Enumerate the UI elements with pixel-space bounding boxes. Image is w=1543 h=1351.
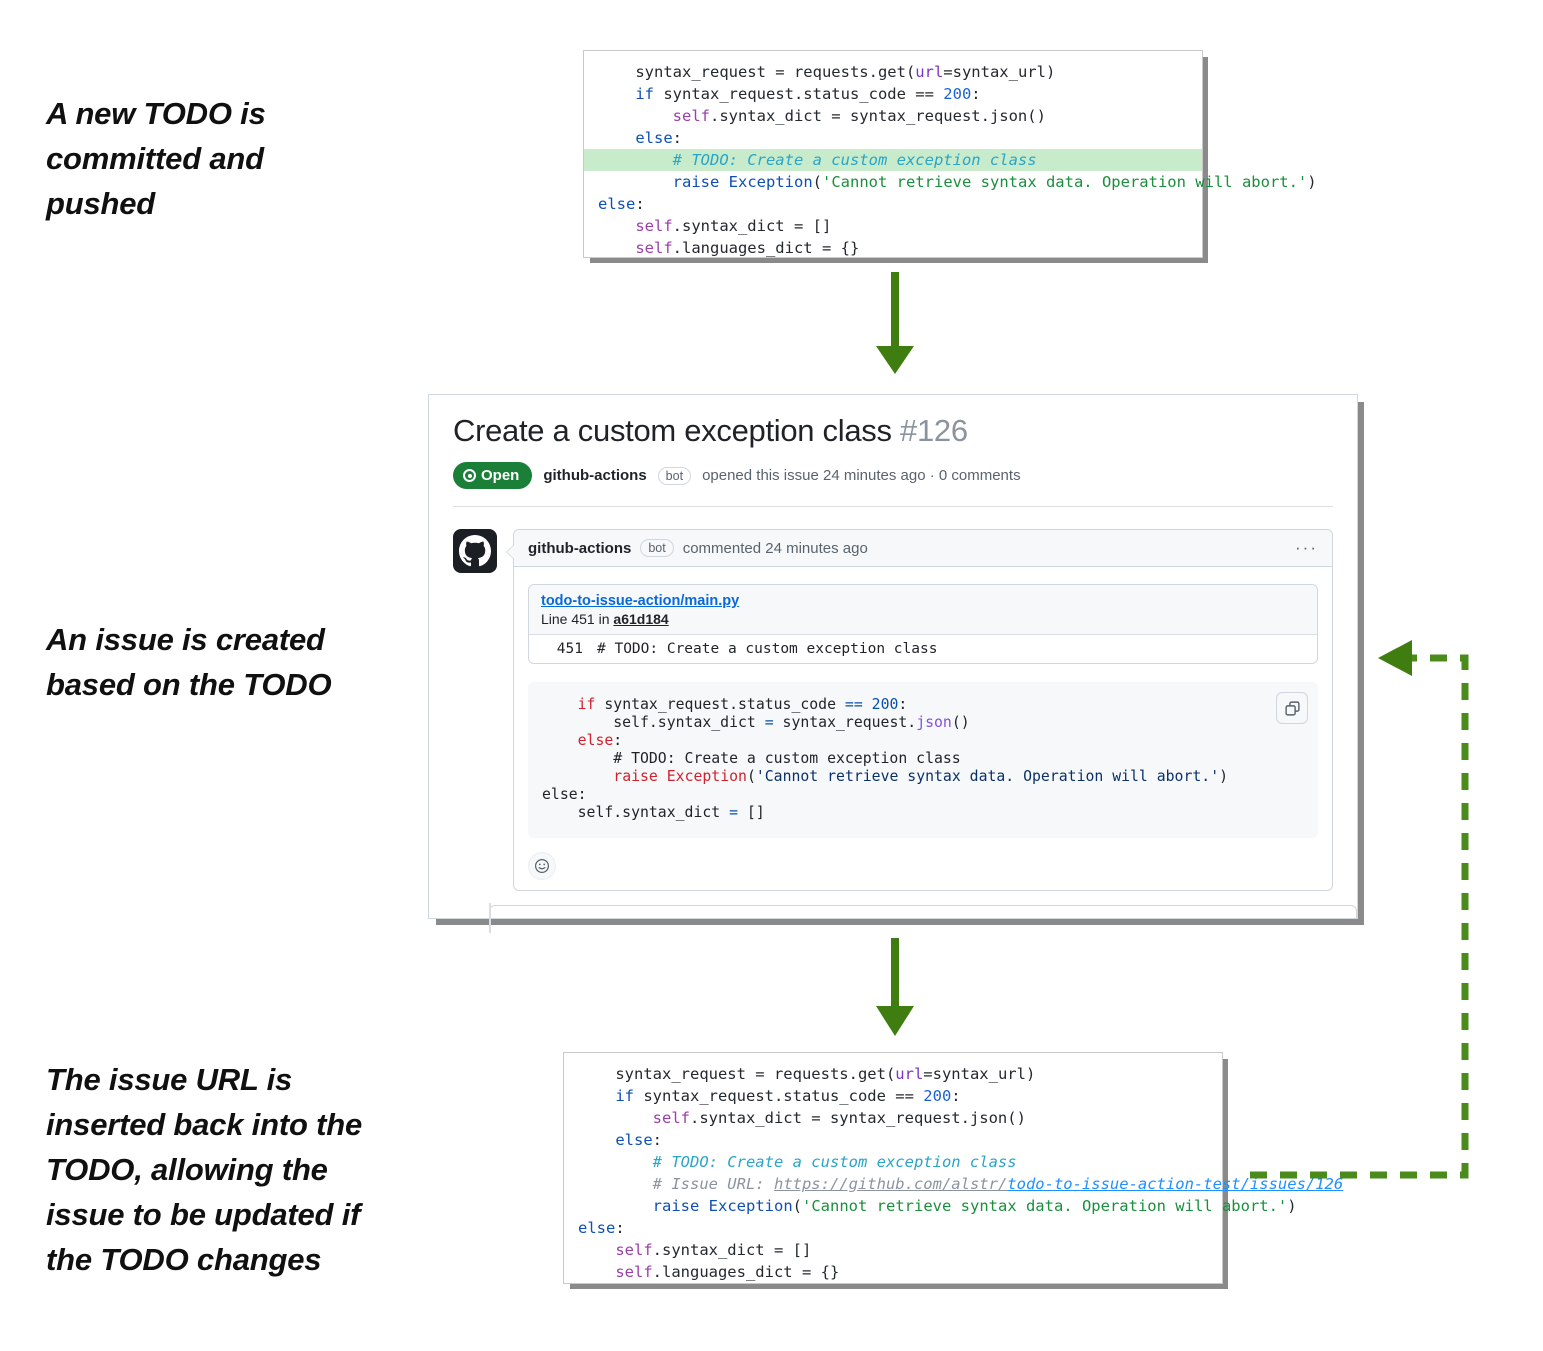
issue-author[interactable]: github-actions xyxy=(543,467,646,484)
github-issue-card: Create a custom exception class #126 Ope… xyxy=(428,394,1358,919)
caption-step-2: An issue is created based on the TODO xyxy=(46,618,386,708)
snippet-commit-sha[interactable]: a61d184 xyxy=(613,611,668,627)
caption-step-3: The issue URL is inserted back into the … xyxy=(46,1058,396,1283)
top-code-card: syntax_request = requests.get(url=syntax… xyxy=(583,50,1203,258)
comment-code-block: if syntax_request.status_code == 200: se… xyxy=(528,682,1318,838)
snippet-line-label: Line 451 in xyxy=(541,611,610,627)
code-line: self.syntax_dict = syntax_request.json() xyxy=(584,105,1202,127)
status-badge-label: Open xyxy=(481,467,519,484)
code-line: else: xyxy=(542,732,1304,750)
issue-meta: Open github-actions bot opened this issu… xyxy=(453,462,1333,489)
issue-number: #126 xyxy=(900,413,968,448)
code-line: # TODO: Create a custom exception class xyxy=(542,750,1304,768)
timeline-rail xyxy=(489,903,491,933)
issue-open-icon xyxy=(463,469,476,482)
code-line: syntax_request = requests.get(url=syntax… xyxy=(584,61,1202,83)
code-line: else: xyxy=(564,1129,1222,1151)
code-permalink-snippet: todo-to-issue-action/main.py Line 451 in… xyxy=(528,584,1318,664)
smiley-glyph xyxy=(534,858,550,874)
code-line: # TODO: Create a custom exception class xyxy=(564,1151,1222,1173)
code-line-issue-url: # Issue URL: https://github.com/alstr/to… xyxy=(564,1173,1222,1195)
issue-title-text: Create a custom exception class xyxy=(453,413,892,448)
code-line: self.languages_dict = {} xyxy=(564,1261,1222,1283)
code-line: if syntax_request.status_code == 200: xyxy=(584,83,1202,105)
comment-box: github-actions bot commented 24 minutes … xyxy=(513,529,1333,891)
code-line: self.syntax_dict = [] xyxy=(584,215,1202,237)
top-code-lines: syntax_request = requests.get(url=syntax… xyxy=(584,51,1202,269)
issue-url-link[interactable]: todo-to-issue-action-test/issues/126 xyxy=(1007,1175,1343,1193)
reactions-row xyxy=(528,852,1318,880)
status-badge-open[interactable]: Open xyxy=(453,462,532,489)
code-line-todo-highlighted: # TODO: Create a custom exception class xyxy=(584,149,1202,171)
snippet-line-code: # TODO: Create a custom exception class xyxy=(597,641,937,657)
bot-badge: bot xyxy=(658,467,691,485)
timeline-next-item-stub xyxy=(489,905,1357,919)
comment-bot-badge: bot xyxy=(640,539,673,557)
issue-url-gray[interactable]: https://github.com/alstr/ xyxy=(774,1175,1007,1193)
code-line: if syntax_request.status_code == 200: xyxy=(542,696,1304,714)
code-line: self.syntax_dict = [] xyxy=(564,1239,1222,1261)
arrow-issue-to-bottom xyxy=(876,938,914,1036)
comment-action-text: commented 24 minutes ago xyxy=(683,540,868,557)
github-mark-icon xyxy=(459,535,491,567)
bottom-code-lines: syntax_request = requests.get(url=syntax… xyxy=(564,1053,1222,1293)
copy-glyph xyxy=(1285,701,1300,716)
copy-icon[interactable] xyxy=(1276,692,1308,724)
code-line: self.syntax_dict = syntax_request.json() xyxy=(542,714,1304,732)
code-line: self.syntax_dict = syntax_request.json() xyxy=(564,1107,1222,1129)
code-line: else: xyxy=(542,786,1304,804)
comment-container: github-actions bot commented 24 minutes … xyxy=(429,507,1357,891)
issue-title: Create a custom exception class #126 xyxy=(453,413,1333,449)
code-line: self.syntax_dict = [] xyxy=(542,804,1304,822)
snippet-file-link[interactable]: todo-to-issue-action/main.py xyxy=(541,593,739,609)
bottom-code-card: syntax_request = requests.get(url=syntax… xyxy=(563,1052,1223,1284)
arrow-top-to-issue xyxy=(876,272,914,374)
code-line: raise Exception('Cannot retrieve syntax … xyxy=(564,1195,1222,1217)
snippet-header: todo-to-issue-action/main.py Line 451 in… xyxy=(529,585,1317,634)
comment-body: todo-to-issue-action/main.py Line 451 in… xyxy=(514,567,1332,890)
code-line: syntax_request = requests.get(url=syntax… xyxy=(564,1063,1222,1085)
code-line: else: xyxy=(584,193,1202,215)
code-line: raise Exception('Cannot retrieve syntax … xyxy=(542,768,1304,786)
caption-step-1: A new TODO is committed and pushed xyxy=(46,92,346,227)
code-line: if syntax_request.status_code == 200: xyxy=(564,1085,1222,1107)
snippet-code-row: 451 # TODO: Create a custom exception cl… xyxy=(529,634,1317,663)
snippet-line-number: 451 xyxy=(529,641,597,657)
comment-author[interactable]: github-actions xyxy=(528,540,631,557)
avatar[interactable] xyxy=(453,529,497,573)
comment-header: github-actions bot commented 24 minutes … xyxy=(514,530,1332,567)
issue-header: Create a custom exception class #126 Ope… xyxy=(429,395,1357,507)
add-reaction-icon[interactable] xyxy=(528,852,556,880)
issue-opened-text: opened this issue 24 minutes ago · 0 com… xyxy=(702,467,1021,484)
snippet-line-info: Line 451 in a61d184 xyxy=(541,611,1305,627)
comment-menu-icon[interactable]: ··· xyxy=(1295,543,1318,553)
code-line: raise Exception('Cannot retrieve syntax … xyxy=(584,171,1202,193)
code-line: else: xyxy=(564,1217,1222,1239)
code-line: else: xyxy=(584,127,1202,149)
code-line: self.languages_dict = {} xyxy=(584,237,1202,259)
